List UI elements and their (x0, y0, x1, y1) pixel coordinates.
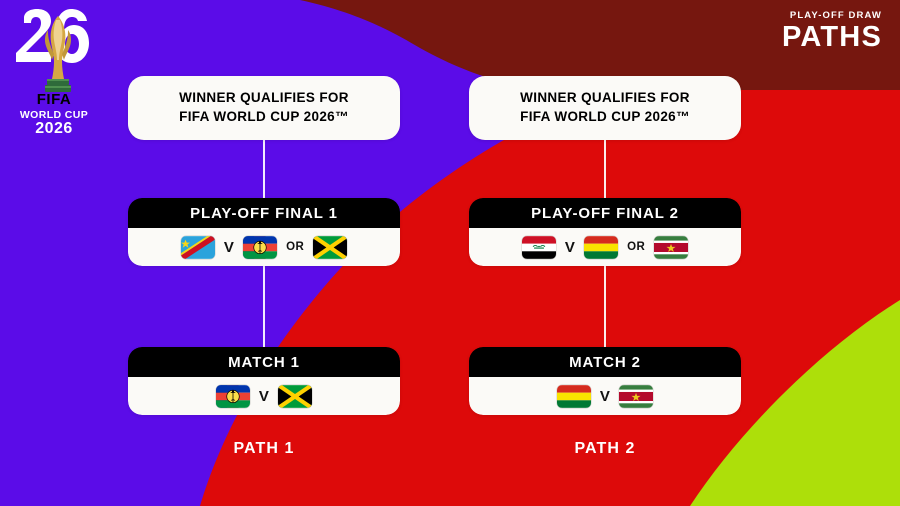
flag-new-caledonia (216, 385, 250, 408)
connector-path1-final-match (263, 266, 265, 354)
flag-dr-congo (181, 236, 215, 259)
playoff-final-1-card[interactable]: PLAY-OFF FINAL 1 V OR (128, 198, 400, 266)
header: PLAY-OFF DRAW PATHS (782, 10, 882, 52)
path-2-label: PATH 2 (469, 440, 741, 458)
playoff-final-2-card[interactable]: PLAY-OFF FINAL 2 V OR (469, 198, 741, 266)
vs-label-final2: V (565, 239, 575, 256)
page-title: PATHS (782, 22, 882, 52)
qualifier-line1-path1: WINNER QUALIFIES FOR (179, 89, 349, 108)
svg-text:2026: 2026 (35, 120, 73, 136)
flag-jamaica (278, 385, 312, 408)
connector-path2-final-match (604, 266, 606, 354)
svg-text:FIFA: FIFA (37, 91, 72, 108)
flag-suriname (619, 385, 653, 408)
or-label-final1: OR (286, 241, 304, 253)
flag-bolivia (557, 385, 591, 408)
vs-label-final1: V (224, 239, 234, 256)
match-1-fixture: V (128, 377, 400, 415)
playoff-paths-graphic: FIFA WORLD CUP 2026 PLAY-OFF DRAW PLAY-O… (0, 0, 900, 506)
flag-new-caledonia (243, 236, 277, 259)
match-1-card[interactable]: MATCH 1 V (128, 347, 400, 415)
match-2-fixture: V (469, 377, 741, 415)
connector-path1-qualifier-final (263, 140, 265, 202)
vs-label-match1: V (259, 388, 269, 405)
flag-jamaica (313, 236, 347, 259)
match-1-title: MATCH 1 (128, 347, 400, 377)
playoff-final-1-title: PLAY-OFF FINAL 1 (128, 198, 400, 228)
playoff-final-2-fixture: V OR (469, 228, 741, 266)
qualifier-card-path2: WINNER QUALIFIES FOR FIFA WORLD CUP 2026… (469, 76, 741, 140)
playoff-final-2-title: PLAY-OFF FINAL 2 (469, 198, 741, 228)
header-kicker: PLAY-OFF DRAW (782, 10, 882, 21)
or-label-final2: OR (627, 241, 645, 253)
vs-label-match2: V (600, 388, 610, 405)
qualifier-line1-path2: WINNER QUALIFIES FOR (520, 89, 690, 108)
flag-bolivia (584, 236, 618, 259)
flag-iraq (522, 236, 556, 259)
qualifier-line2-path1: FIFA WORLD CUP 2026™ (179, 108, 349, 127)
qualifier-card-path1: WINNER QUALIFIES FOR FIFA WORLD CUP 2026… (128, 76, 400, 140)
path-1-label: PATH 1 (128, 440, 400, 458)
flag-suriname (654, 236, 688, 259)
fifa-world-cup-2026-logo: FIFA WORLD CUP 2026 PLAY-OFF DRAW (8, 6, 100, 136)
match-2-title: MATCH 2 (469, 347, 741, 377)
qualifier-line2-path2: FIFA WORLD CUP 2026™ (520, 108, 690, 127)
connector-path2-qualifier-final (604, 140, 606, 202)
match-2-card[interactable]: MATCH 2 V (469, 347, 741, 415)
playoff-final-1-fixture: V OR (128, 228, 400, 266)
